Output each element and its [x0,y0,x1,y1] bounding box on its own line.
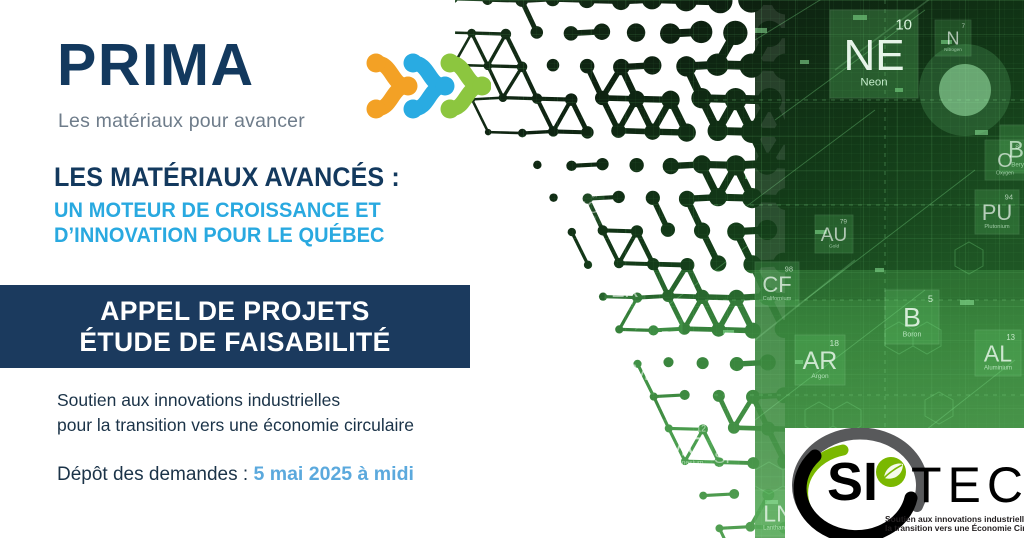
svg-text:ER: ER [611,280,639,302]
svg-text:Nitrogen: Nitrogen [944,47,962,52]
headline-line-2: UN MOTEUR DE CROISSANCE ET [54,198,426,223]
svg-text:Gold: Gold [829,244,840,250]
deadline-line: Dépôt des demandes : 5 mai 2025 à midi [57,463,414,486]
svg-text:O: O [997,150,1013,172]
svg-text:Argon: Argon [811,373,829,380]
description-line-1: Soutien aux innovations industrielles [57,388,477,413]
svg-text:CF: CF [762,272,791,297]
prima-chevron-dots-icon [365,50,491,122]
svg-text:TEC: TEC [911,457,1024,513]
svg-text:MG: MG [665,431,707,461]
svg-text:Magnesium: Magnesium [668,460,703,467]
promotional-poster: 10NENeon4BEBeryllium98CFCalifornium18ARA… [0,0,1024,538]
leaf-icon [876,457,906,487]
svg-text:Holmium: Holmium [578,215,596,220]
svg-text:AR: AR [803,347,838,375]
svg-text:8: 8 [1015,144,1019,151]
description-text: Soutien aux innovations industrielles po… [57,388,477,437]
svg-text:Silicon: Silicon [716,465,729,470]
svg-text:Plutonium: Plutonium [984,224,1010,230]
svg-text:NE: NE [843,31,904,80]
description-line-2: pour la transition vers une économie cir… [57,413,477,438]
sitec-logo: SI TEC Soutien aux innovations industrie… [785,428,1024,538]
svg-text:PU: PU [982,200,1013,225]
banner-line-1: APPEL DE PROJETS [100,296,370,327]
svg-text:AU: AU [821,225,847,246]
call-for-projects-banner: APPEL DE PROJETS ÉTUDE DE FAISABILITÉ [0,285,470,368]
deadline-label: Dépôt des demandes : [57,464,253,485]
svg-text:Boron: Boron [903,331,922,338]
svg-text:Neon: Neon [860,77,887,89]
sitec-tagline-line-2: la transition vers une Économie Circulai… [885,522,1024,533]
svg-text:Phosphorus: Phosphorus [655,344,677,349]
deadline-date: 5 mai 2025 à midi [253,463,413,485]
svg-text:Erbium: Erbium [617,300,633,306]
headline-line-3: D’INNOVATION POUR LE QUÉBEC [54,223,426,248]
svg-text:Oxygen: Oxygen [996,170,1014,176]
prima-logo: PRIMA Les matériaux pour avancer [57,30,437,140]
banner-line-2: ÉTUDE DE FAISABILITÉ [79,327,390,358]
headline-line-1: LES MATÉRIAUX AVANCÉS : [54,162,426,192]
svg-text:B: B [903,303,921,333]
prima-wordmark: PRIMA [57,36,255,95]
svg-text:Aluminium: Aluminium [984,366,1012,372]
prima-tagline: Les matériaux pour avancer [58,110,305,133]
headline-block: LES MATÉRIAUX AVANCÉS : UN MOTEUR DE CRO… [54,162,454,247]
svg-text:5: 5 [928,294,933,304]
svg-text:SI: SI [827,452,878,512]
svg-text:Californium: Californium [763,296,792,302]
svg-text:N: N [947,28,960,48]
sitec-logo-graphic: SI TEC Soutien aux innovations industrie… [785,428,1024,538]
svg-text:Curium: Curium [623,384,642,390]
svg-text:CM: CM [615,360,649,385]
svg-text:AL: AL [984,340,1012,366]
content-column: PRIMA Les matériaux pour avancer LES MAT… [0,0,470,538]
